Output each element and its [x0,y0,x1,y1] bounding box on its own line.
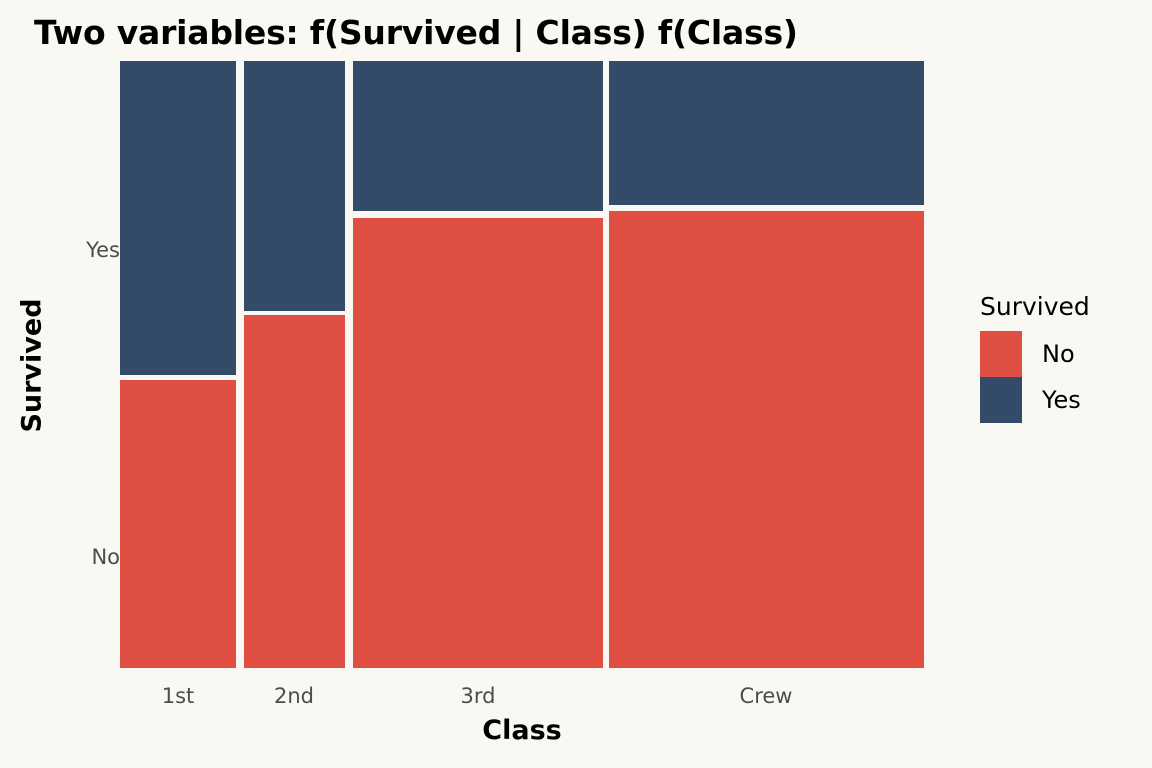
mosaic-tile-1st-yes[interactable] [120,61,236,375]
y-axis-title: Survived [17,266,48,466]
legend-label-no: No [1042,340,1075,368]
mosaic-column-crew [609,61,924,668]
mosaic-tile-2nd-yes[interactable] [244,61,345,311]
x-tick-label-crew: Crew [740,684,793,708]
mosaic-tile-crew-yes[interactable] [609,61,924,205]
mosaic-tile-1st-no[interactable] [120,380,236,668]
plot-area [120,61,924,668]
mosaic-column-1st [120,61,236,668]
legend-label-yes: Yes [1042,386,1081,414]
mosaic-tile-3rd-yes[interactable] [353,61,603,211]
y-tick-label-no: No [91,545,120,569]
x-tick-label-1st: 1st [162,684,195,708]
x-tick-label-3rd: 3rd [461,684,496,708]
mosaic-column-3rd [353,61,603,668]
x-axis-title: Class [120,715,924,746]
page-title: Two variables: f(Survived | Class) f(Cla… [34,13,798,52]
mosaic-tile-2nd-no[interactable] [244,315,345,668]
x-tick-label-2nd: 2nd [274,684,314,708]
mosaic-plot-figure: Two variables: f(Survived | Class) f(Cla… [0,0,1152,768]
legend: Survived No Yes [980,292,1090,423]
legend-title: Survived [980,292,1090,321]
mosaic-tile-3rd-no[interactable] [353,218,603,668]
mosaic-tile-crew-no[interactable] [609,211,924,668]
legend-entry-yes[interactable]: Yes [980,377,1090,423]
y-tick-label-yes: Yes [86,238,120,262]
mosaic-column-2nd [244,61,345,668]
legend-swatch-yes-icon [980,377,1022,423]
legend-swatch-no-icon [980,331,1022,377]
legend-entry-no[interactable]: No [980,331,1090,377]
